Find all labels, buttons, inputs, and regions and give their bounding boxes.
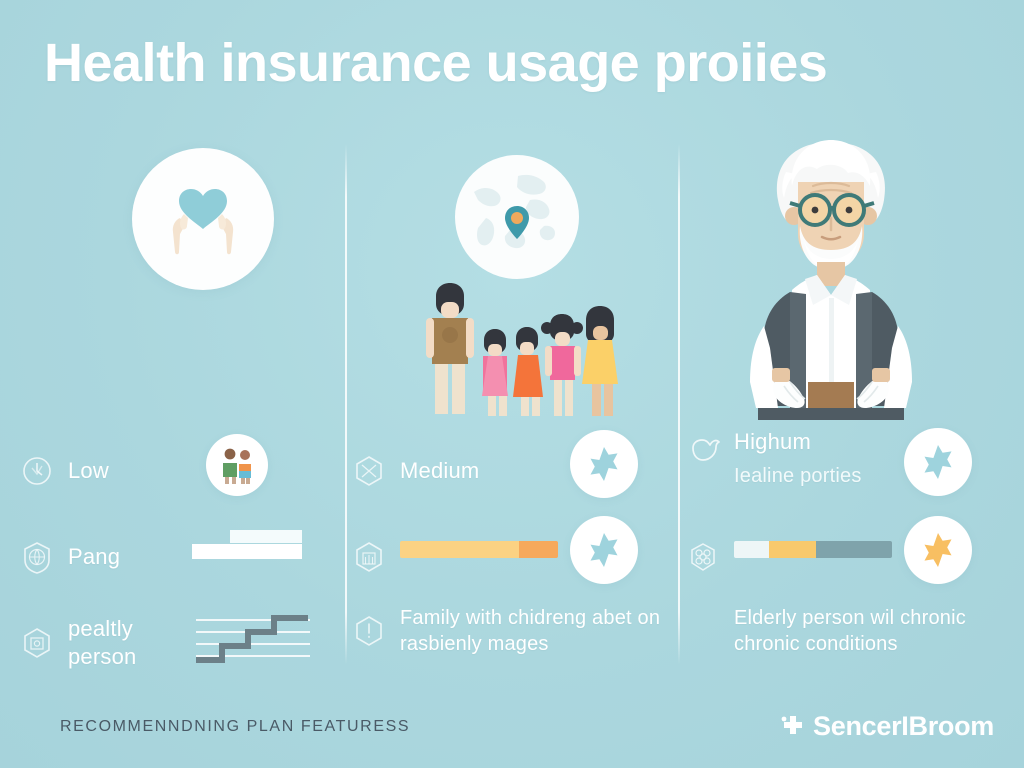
- bar-segment: [734, 541, 769, 558]
- bird-badge-icon: [686, 432, 720, 466]
- list-item[interactable]: Family with chidreng abet on rasbienly m…: [352, 600, 672, 686]
- list-item-label: Low: [68, 457, 109, 485]
- list-item-label: Family with chidreng abet on rasbienly m…: [400, 600, 672, 657]
- list-item[interactable]: [686, 514, 1006, 600]
- clock-badge-icon: [20, 454, 54, 488]
- rows-medium: Medium: [352, 428, 672, 686]
- rows-low: Low: [20, 428, 340, 686]
- bar-segment: [519, 541, 559, 558]
- list-item[interactable]: Medium: [352, 428, 672, 514]
- list-item[interactable]: Low: [20, 428, 340, 514]
- brand-name: SencerIBroom: [813, 711, 994, 742]
- family-group-illustration: [398, 280, 628, 420]
- hero-low: [20, 130, 340, 420]
- cluster-badge-icon: [686, 540, 720, 574]
- two-people-avatar-circle: [206, 434, 268, 496]
- list-item-label: Medium: [400, 457, 479, 485]
- building-badge-icon: [352, 540, 386, 574]
- infographic-poster: Health insurance usage proiies: [0, 0, 1024, 768]
- column-divider-1: [345, 144, 347, 664]
- star-badge-circle: [570, 430, 638, 498]
- heart-in-hands-icon: [132, 148, 274, 290]
- bar-segment: [400, 541, 519, 558]
- list-item[interactable]: Elderly person wil chronic chronic condi…: [686, 600, 1006, 686]
- list-item-sublabel: Iealine porties: [734, 464, 862, 490]
- dice-badge-icon: [352, 454, 386, 488]
- gray-staircase-chart: [192, 608, 312, 670]
- column-medium: Medium: [352, 130, 672, 690]
- column-divider-2: [678, 144, 680, 664]
- elderly-man-illustration: [716, 130, 946, 420]
- shield-badge-icon: [352, 614, 386, 648]
- globe-map-pin-icon: [452, 152, 582, 282]
- list-item[interactable]: pealtly person: [20, 600, 340, 686]
- list-item[interactable]: Pang: [20, 514, 340, 600]
- globe-badge-icon: [20, 540, 54, 574]
- column-high: Highum Iealine porties: [686, 130, 1006, 690]
- footer-caption: RECOMMENNDNING PLAN FEATURESS: [60, 718, 410, 736]
- star-badge-circle: [570, 516, 638, 584]
- bar-segment: [816, 541, 892, 558]
- white-step-bars: [192, 528, 312, 568]
- hero-medium: [352, 130, 672, 420]
- list-item-label: Elderly person wil chronic chronic condi…: [686, 600, 966, 657]
- star-badge-circle: [904, 428, 972, 496]
- amber-progress-bar: [400, 540, 558, 558]
- hero-high: [686, 130, 1006, 420]
- page-title: Health insurance usage proiies: [44, 34, 994, 92]
- bar-segment: [769, 541, 816, 558]
- rows-high: Highum Iealine porties: [686, 428, 1006, 686]
- list-item-label: pealtly person: [68, 615, 178, 671]
- tri-segment-bar: [734, 540, 892, 558]
- list-item-label: Pang: [68, 543, 120, 571]
- list-item[interactable]: [352, 514, 672, 600]
- medical-cross-icon: [780, 714, 806, 740]
- column-low: Low: [20, 130, 340, 690]
- brand-logo[interactable]: SencerIBroom: [780, 711, 994, 742]
- list-item-label: Highum: [734, 428, 862, 456]
- list-item[interactable]: Highum Iealine porties: [686, 428, 1006, 514]
- box-badge-icon: [20, 626, 54, 660]
- orange-star-badge: [904, 516, 972, 584]
